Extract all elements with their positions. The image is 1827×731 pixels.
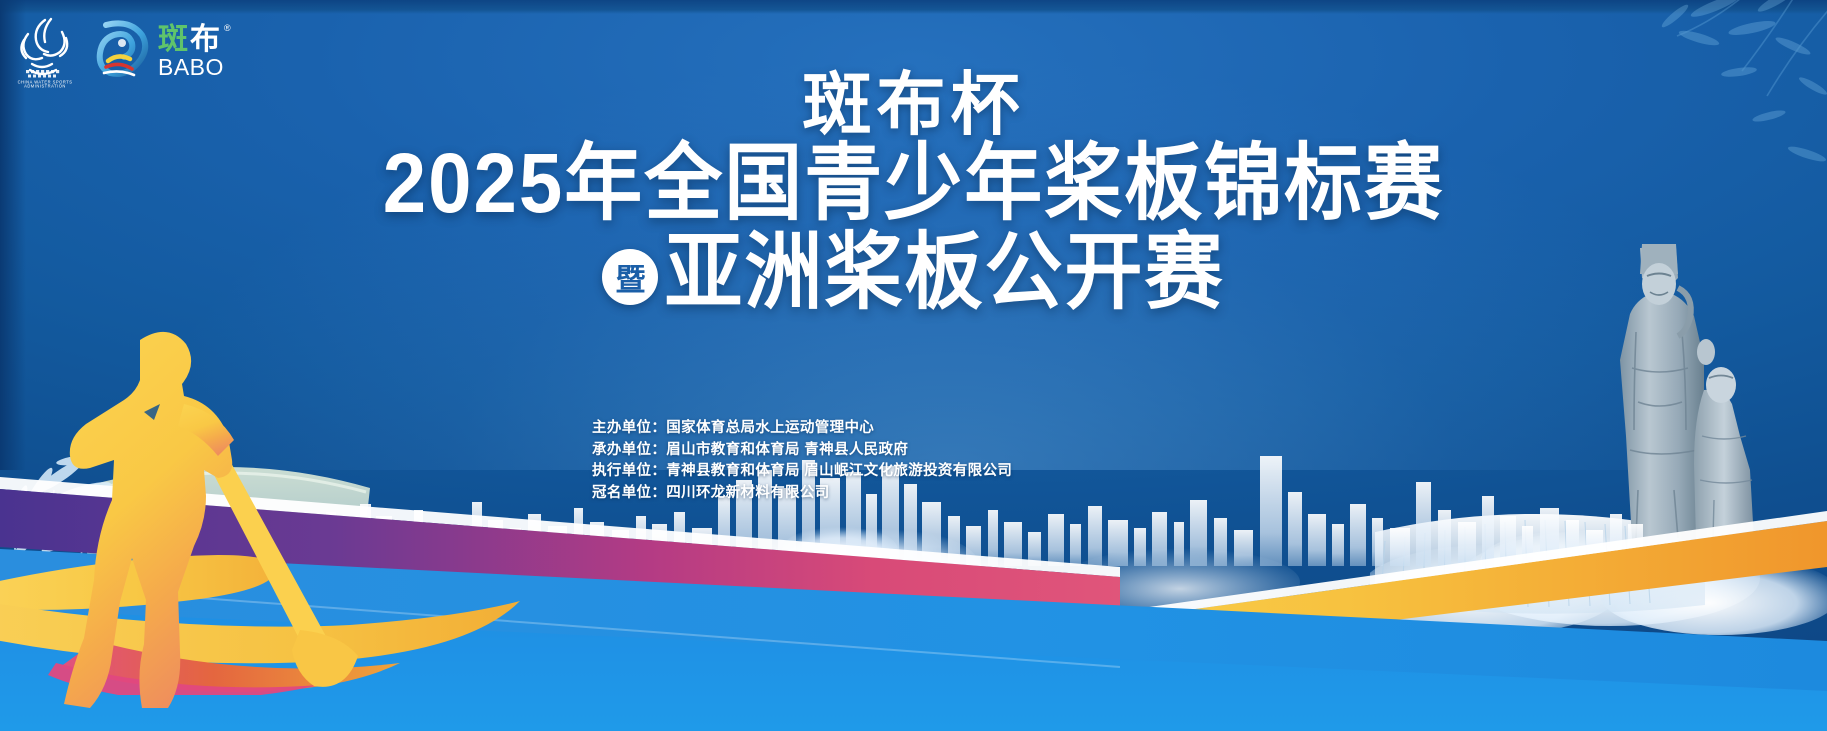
title-line-3-row: 暨 亚洲桨板公开赛 (0, 232, 1827, 313)
registered-mark: ® (224, 23, 231, 33)
cwsa-en-line2: ADMINISTRATION (24, 84, 66, 89)
event-poster-banner: CHINA WATER SPORTS ADMINISTRATION (0, 0, 1827, 731)
sup-paddler-silhouette (28, 300, 448, 720)
organizer-label: 承办单位： (592, 442, 666, 458)
title-line-3: 亚洲桨板公开赛 (664, 229, 1224, 317)
babo-cn-text2: 布 (190, 23, 220, 56)
title-line-1: 斑布杯 (0, 70, 1827, 139)
babo-logo: 斑 布 ® BABO (92, 17, 250, 83)
organizer-line: 主办单位：国家体育总局水上运动管理中心 (592, 418, 1012, 440)
organizer-list: 主办单位：国家体育总局水上运动管理中心 承办单位：眉山市教育和体育局 青神县人民… (592, 418, 1012, 504)
organizer-line: 执行单位：青神县教育和体育局 眉山岷江文化旅游投资有限公司 (592, 461, 1012, 483)
organizer-value: 国家体育总局水上运动管理中心 (666, 420, 874, 436)
title-line-2: 2025年全国青少年桨板锦标赛 (0, 140, 1827, 228)
organizer-label: 执行单位： (592, 463, 666, 479)
logo-bar: CHINA WATER SPORTS ADMINISTRATION (14, 12, 250, 88)
china-water-sports-administration-logo: CHINA WATER SPORTS ADMINISTRATION (14, 12, 76, 88)
organizer-line: 承办单位：眉山市教育和体育局 青神县人民政府 (592, 440, 1012, 462)
organizer-value: 青神县教育和体育局 眉山岷江文化旅游投资有限公司 (666, 463, 1012, 479)
babo-cn-text: 斑 (158, 23, 188, 56)
organizer-label: 主办单位： (592, 420, 666, 436)
babo-en-text: BABO (158, 54, 224, 80)
poster-title: 斑布杯 2025年全国青少年桨板锦标赛 暨 亚洲桨板公开赛 (0, 70, 1827, 313)
organizer-value: 四川环龙新材料有限公司 (666, 485, 829, 501)
babo-wordmark: 斑 布 ® BABO (158, 19, 250, 81)
sky-top-band (0, 0, 1827, 14)
babo-mark-icon (92, 17, 152, 83)
organizer-label: 冠名单位： (592, 485, 666, 501)
organizer-value: 眉山市教育和体育局 青神县人民政府 (666, 442, 908, 458)
organizer-line: 冠名单位：四川环龙新材料有限公司 (592, 483, 1012, 505)
ji-badge: 暨 (602, 249, 658, 305)
